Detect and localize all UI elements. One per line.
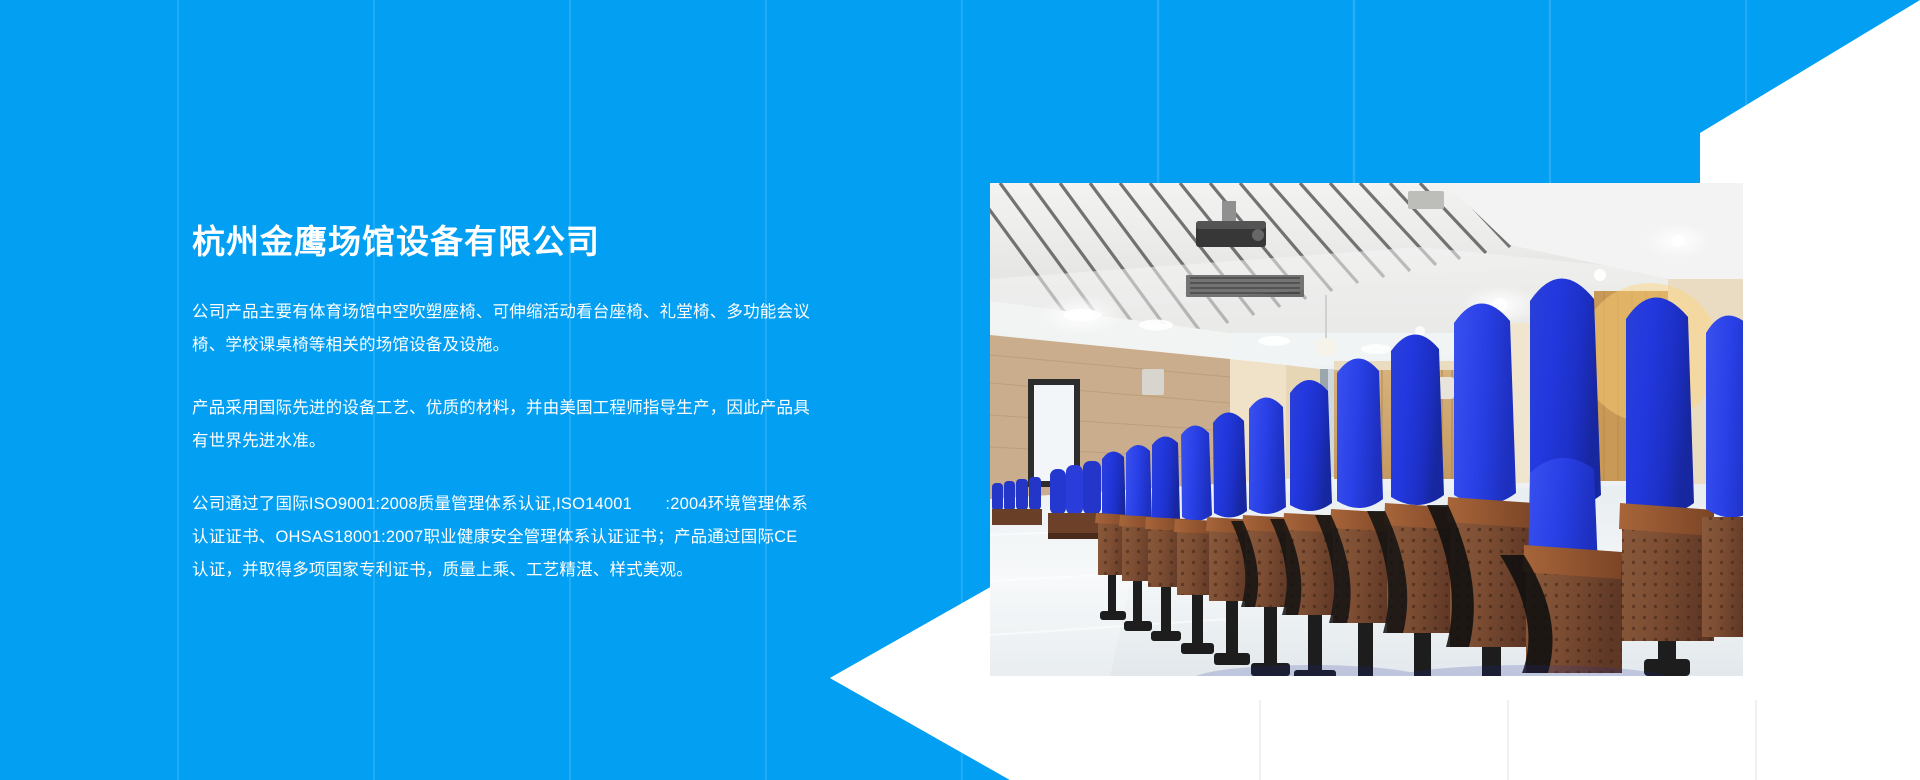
hero-paragraph-products: 公司产品主要有体育场馆中空吹塑座椅、可伸缩活动看台座椅、礼堂椅、多功能会议椅、学… <box>192 296 812 362</box>
page-title: 杭州金鹰场馆设备有限公司 <box>192 222 812 262</box>
hero-paragraph-quality: 产品采用国际先进的设备工艺、优质的材料，并由美国工程师指导生产，因此产品具有世界… <box>192 392 812 458</box>
hero-text-column: 杭州金鹰场馆设备有限公司 公司产品主要有体育场馆中空吹塑座椅、可伸缩活动看台座椅… <box>192 222 812 587</box>
auditorium-seating-photo <box>990 183 1743 676</box>
hero-banner: 杭州金鹰场馆设备有限公司 公司产品主要有体育场馆中空吹塑座椅、可伸缩活动看台座椅… <box>0 0 1920 780</box>
hero-paragraph-certifications: 公司通过了国际ISO9001:2008质量管理体系认证,ISO14001 :20… <box>192 488 812 587</box>
